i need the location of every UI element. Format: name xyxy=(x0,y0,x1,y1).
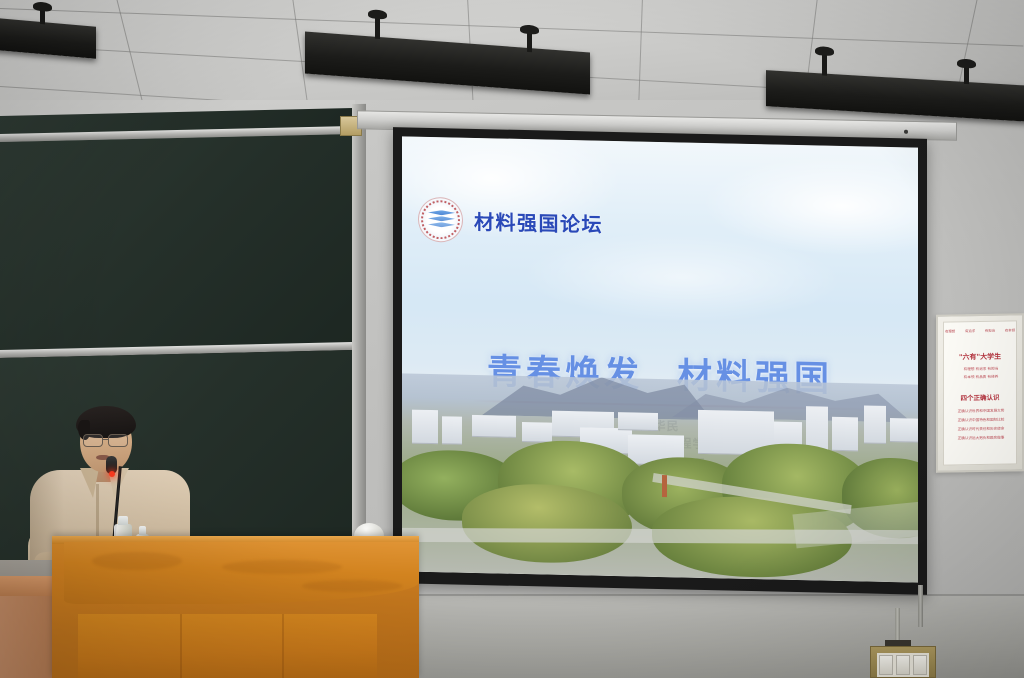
poster-top-1: 有理想 xyxy=(945,328,955,338)
eyeglass-lens-left xyxy=(83,434,103,447)
microphone-status-led xyxy=(109,471,115,477)
lectern-front-panel xyxy=(64,542,419,604)
poster-lines-1b: 有本领 有品质 有修养 xyxy=(947,373,1015,381)
campus-aerial-photo xyxy=(402,373,918,582)
slide-forum-title: 材料强国论坛 xyxy=(474,206,603,238)
wall-light-switch-panel[interactable] xyxy=(870,646,936,678)
poster-lines-2b: 正确认识中国特色和国际比较 xyxy=(947,416,1015,424)
light-switch-1[interactable] xyxy=(879,655,893,675)
eyeglass-bridge xyxy=(103,439,108,440)
lecture-hall-scene: 材料强国论坛 青春焕发材料强国 周华民 材料科学与工程学院 2022年6月14日 xyxy=(0,0,1024,678)
screen-case-marker xyxy=(904,130,908,134)
wooden-lectern xyxy=(52,536,419,678)
poster-lines-2d: 正确认识远大抱负和踏实做事 xyxy=(947,434,1015,442)
projection-screen-support-leg xyxy=(918,585,923,627)
poster-top-2: 有追求 xyxy=(965,328,975,338)
presentation-slide: 材料强国论坛 青春焕发材料强国 周华民 材料科学与工程学院 2022年6月14日 xyxy=(402,136,918,582)
poster-top-3: 有担当 xyxy=(985,328,995,338)
pull-down-projection-screen[interactable]: 材料强国论坛 青春焕发材料强国 周华民 材料科学与工程学院 2022年6月14日 xyxy=(393,127,927,595)
slide-header: 材料强国论坛 xyxy=(418,197,603,246)
lectern-lower-panel xyxy=(78,614,377,678)
eyeglasses xyxy=(81,434,133,447)
book-emblem-icon xyxy=(428,210,455,232)
lectern-seam-1 xyxy=(180,614,182,678)
screen-surface: 材料强国论坛 青春焕发材料强国 周华民 材料科学与工程学院 2022年6月14日 xyxy=(402,136,918,582)
switch-panel-inner xyxy=(877,653,929,677)
poster-lines-2c: 正确认识时代责任和历史使命 xyxy=(947,425,1015,433)
poster-lines-1a: 有理想 有追求 有担当 xyxy=(947,365,1015,373)
eyeglass-lens-right xyxy=(108,434,128,447)
lectern-seam-2 xyxy=(282,614,284,678)
shirt-collar-left xyxy=(80,468,99,498)
poster-heading-1: "六有"大学生 xyxy=(938,351,1022,362)
wall-poster: 有理想 有追求 有担当 有本领 "六有"大学生 有理想 有追求 有担当 有本领 … xyxy=(936,313,1024,473)
light-switch-3[interactable] xyxy=(913,655,927,675)
university-emblem-logo xyxy=(418,197,463,243)
poster-lines-2a: 正确认识世界和中国发展大势 xyxy=(947,407,1015,415)
poster-top-4: 有本领 xyxy=(1005,327,1015,337)
poster-top-row: 有理想 有追求 有担当 有本领 xyxy=(945,327,1015,338)
light-switch-2[interactable] xyxy=(896,655,910,675)
blackboard-right-edge xyxy=(352,104,366,574)
poster-heading-2: 四个正确认识 xyxy=(938,391,1022,402)
